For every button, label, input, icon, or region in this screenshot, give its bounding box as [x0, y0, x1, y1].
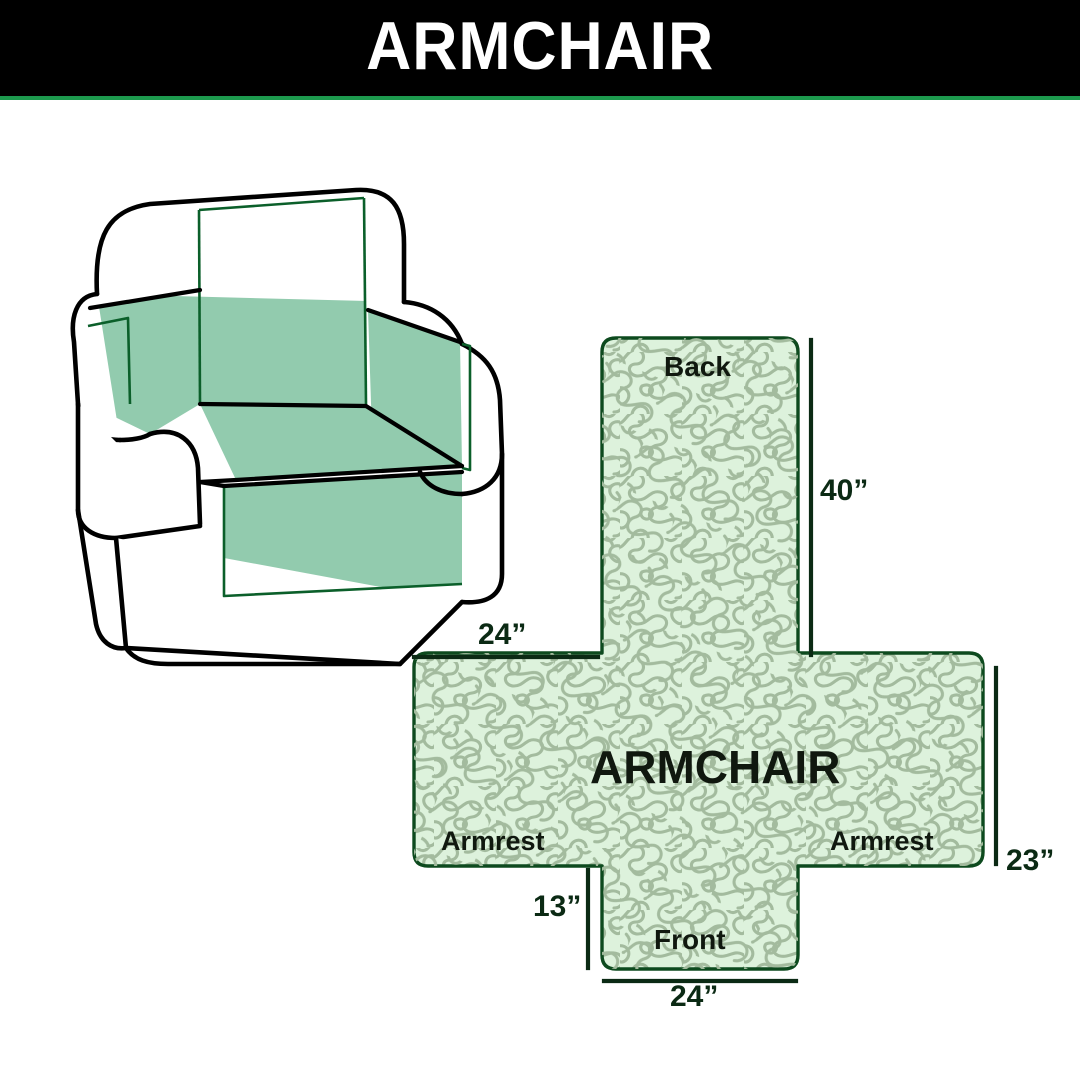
header-bar: ARMCHAIR — [0, 0, 1080, 100]
panel-label-armrest-right: Armrest — [830, 828, 934, 855]
dimension-label-back-height: 40” — [820, 476, 868, 506]
armchair-illustration — [73, 190, 502, 664]
dimension-label-back-width: 24” — [478, 620, 526, 650]
panel-label-armrest-left: Armrest — [441, 828, 545, 855]
panel-label-front: Front — [654, 926, 726, 954]
diagram-canvas: Back ARMCHAIR Armrest Armrest Front 40” … — [0, 104, 1080, 1080]
dimension-label-body-height: 23” — [1006, 846, 1054, 876]
dimension-label-front-width: 24” — [670, 982, 718, 1012]
panel-label-back: Back — [664, 353, 731, 381]
page-title: ARMCHAIR — [366, 12, 714, 80]
pattern-title-label: ARMCHAIR — [590, 744, 840, 790]
dimension-label-front-depth: 13” — [533, 892, 581, 922]
diagram-vector-layer — [0, 104, 1080, 1080]
